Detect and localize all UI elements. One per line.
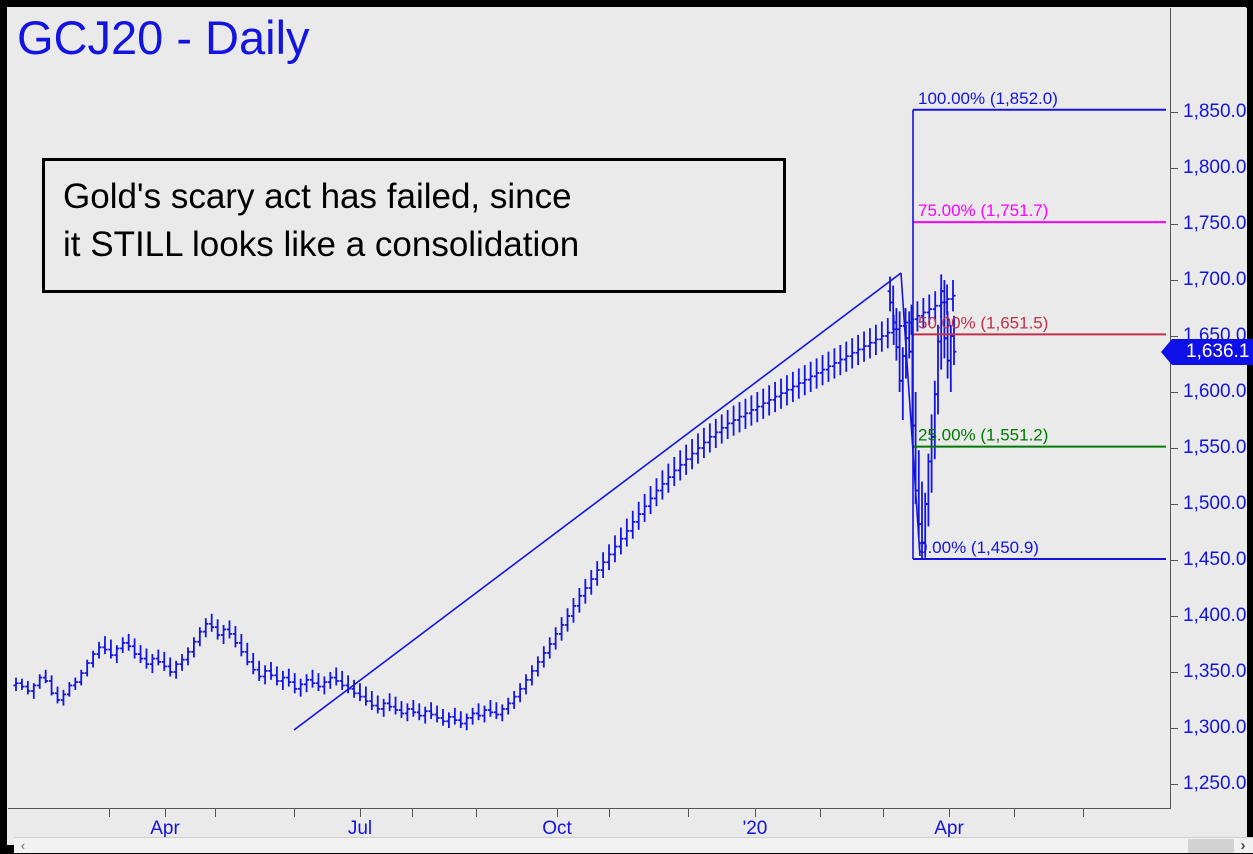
trendlines [294,273,920,730]
date-tick [883,809,884,817]
chart-window: GCJ20 - Daily Gold's scary act has faile… [0,0,1253,852]
scroll-thumb[interactable] [1188,839,1234,853]
uptrend-support [294,273,901,730]
plot-area[interactable]: 100.00% (1,852.0)75.00% (1,751.7)50.00% … [8,8,1166,808]
price-tick-label: 1,250.0 [1183,773,1246,795]
price-tick-label: 1,300.0 [1183,717,1246,739]
price-tick [1171,448,1178,449]
date-tick [109,809,110,817]
price-tick [1171,728,1178,729]
date-tick [755,809,756,817]
date-tick [1083,809,1084,817]
scroll-left-arrow-icon[interactable]: ‹ [16,838,30,853]
price-tick-label: 1,450.0 [1183,549,1246,571]
fibonacci-label: 75.00% (1,751.7) [918,201,1048,220]
date-tick [820,809,821,817]
price-series-svg: 100.00% (1,852.0)75.00% (1,751.7)50.00% … [8,8,1166,808]
date-tick [688,809,689,817]
price-tick [1171,784,1178,785]
fibonacci-label: 0.00% (1,450.9) [918,538,1039,557]
price-tick [1171,336,1178,337]
fibonacci-lines [913,110,1166,559]
price-tick-label: 1,700.0 [1183,269,1246,291]
price-tick-label: 1,400.0 [1183,605,1246,627]
date-tick [294,809,295,817]
price-tick-label: 1,750.0 [1183,213,1246,235]
ohlc-bars [13,274,956,730]
price-tick [1171,504,1178,505]
price-tick-label: 1,850.0 [1183,101,1246,123]
price-tick [1171,392,1178,393]
fibonacci-labels: 100.00% (1,852.0)75.00% (1,751.7)50.00% … [918,89,1058,557]
date-tick [215,809,216,817]
price-tick [1171,224,1178,225]
price-tick [1171,616,1178,617]
fibonacci-label: 25.00% (1,551.2) [918,426,1048,445]
date-tick [1014,809,1015,817]
horizontal-scrollbar[interactable]: ‹ › [14,837,1253,853]
date-tick [949,809,950,817]
date-tick [360,809,361,817]
price-tick [1171,112,1178,113]
date-tick [609,809,610,817]
price-tick [1171,280,1178,281]
price-tick-label: 1,800.0 [1183,157,1246,179]
price-tick [1171,560,1178,561]
price-axis[interactable]: 1,850.01,800.01,750.01,700.01,650.01,600… [1171,8,1247,808]
chart-frame: GCJ20 - Daily Gold's scary act has faile… [6,6,1247,846]
price-tick-label: 1,350.0 [1183,661,1246,683]
scroll-right-arrow-icon[interactable]: › [1235,838,1251,853]
price-tick [1171,672,1178,673]
date-tick [165,809,166,817]
date-axis-line [8,808,1171,809]
fibonacci-label: 100.00% (1,852.0) [918,89,1058,108]
price-tick-label: 1,550.0 [1183,437,1246,459]
date-tick [412,809,413,817]
fibonacci-label: 50.00% (1,651.5) [918,313,1048,332]
price-tick [1171,168,1178,169]
date-tick [476,809,477,817]
price-tick-label: 1,500.0 [1183,493,1246,515]
date-tick [557,809,558,817]
current-price-marker[interactable]: 1,636.1 [1172,339,1253,365]
price-tick-label: 1,600.0 [1183,381,1246,403]
